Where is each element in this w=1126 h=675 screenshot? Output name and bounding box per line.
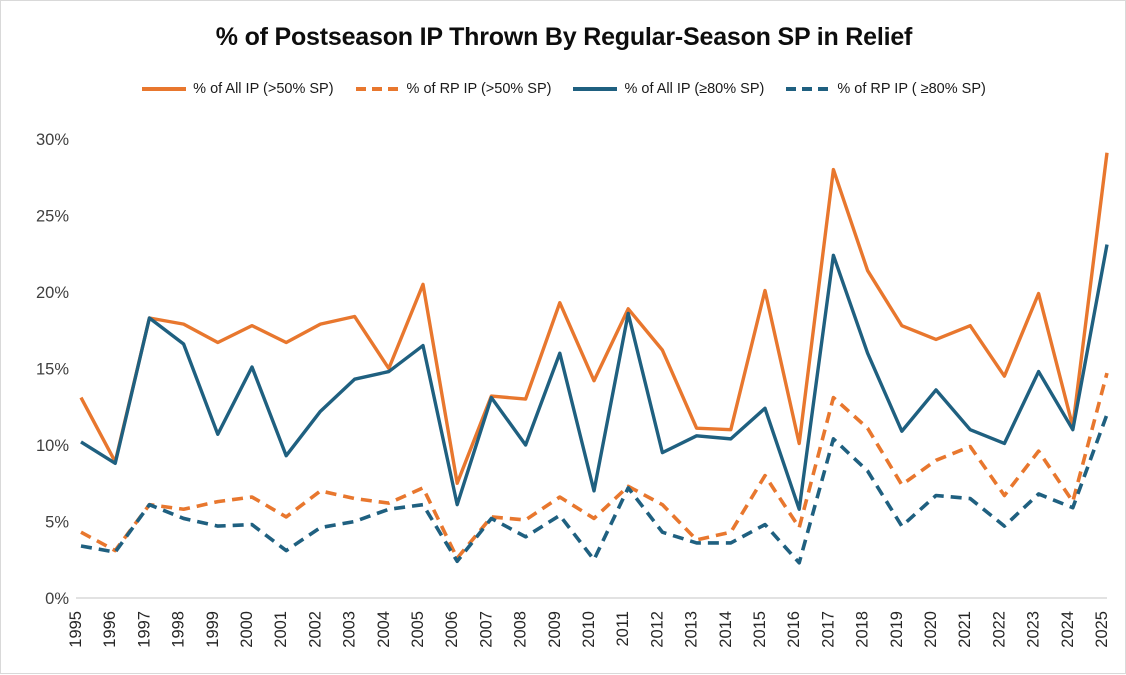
- x-tick-label: 1998: [170, 611, 188, 648]
- x-tick-label: 2008: [512, 611, 530, 648]
- y-tick-label: 25%: [36, 208, 69, 226]
- x-tick-label: 1996: [101, 611, 119, 648]
- y-tick-label: 0%: [45, 590, 69, 608]
- x-tick-label: 2014: [717, 611, 735, 648]
- y-tick-label: 30%: [36, 131, 69, 149]
- x-tick-label: 2022: [990, 611, 1008, 648]
- x-tick-label: 2005: [409, 611, 427, 648]
- x-tick-label: 2025: [1093, 611, 1111, 648]
- x-tick-label: 2010: [580, 611, 598, 648]
- x-tick-label: 2002: [306, 611, 324, 648]
- x-tick-label: 2007: [477, 611, 495, 648]
- x-tick-label: 2011: [614, 611, 632, 646]
- x-tick-label: 1999: [204, 611, 222, 648]
- x-tick-label: 2021: [956, 611, 974, 648]
- x-tick-label: 2015: [751, 611, 769, 648]
- x-tick-label: 2001: [272, 611, 290, 648]
- chart-container: % of Postseason IP Thrown By Regular-Sea…: [0, 0, 1126, 674]
- x-tick-label: 2013: [683, 611, 701, 648]
- y-axis-ticks: 30%25%20%15%10%5%0%: [36, 131, 69, 608]
- series-lines: [81, 153, 1107, 563]
- x-tick-label: 2020: [922, 611, 940, 648]
- x-tick-label: 2003: [341, 611, 359, 648]
- y-tick-label: 15%: [36, 361, 69, 379]
- x-tick-label: 2012: [648, 611, 666, 648]
- x-tick-label: 2024: [1059, 611, 1077, 648]
- plot-area: 30%25%20%15%10%5%0% 19951996199719981999…: [1, 1, 1126, 675]
- x-tick-label: 2004: [375, 611, 393, 648]
- x-tick-label: 1995: [67, 611, 85, 648]
- x-tick-label: 2023: [1025, 611, 1043, 648]
- y-tick-label: 5%: [45, 514, 69, 532]
- y-tick-label: 10%: [36, 437, 69, 455]
- x-tick-label: 2016: [785, 611, 803, 648]
- x-axis-ticks: 1995199619971998199920002001200220032004…: [67, 611, 1111, 648]
- x-tick-label: 1997: [135, 611, 153, 648]
- x-tick-label: 2019: [888, 611, 906, 648]
- x-tick-label: 2006: [443, 611, 461, 648]
- x-tick-label: 2017: [819, 611, 837, 648]
- x-tick-label: 2000: [238, 611, 256, 648]
- y-tick-label: 20%: [36, 284, 69, 302]
- series-line-0[interactable]: [81, 153, 1107, 483]
- x-tick-label: 2018: [854, 611, 872, 648]
- x-tick-label: 2009: [546, 611, 564, 648]
